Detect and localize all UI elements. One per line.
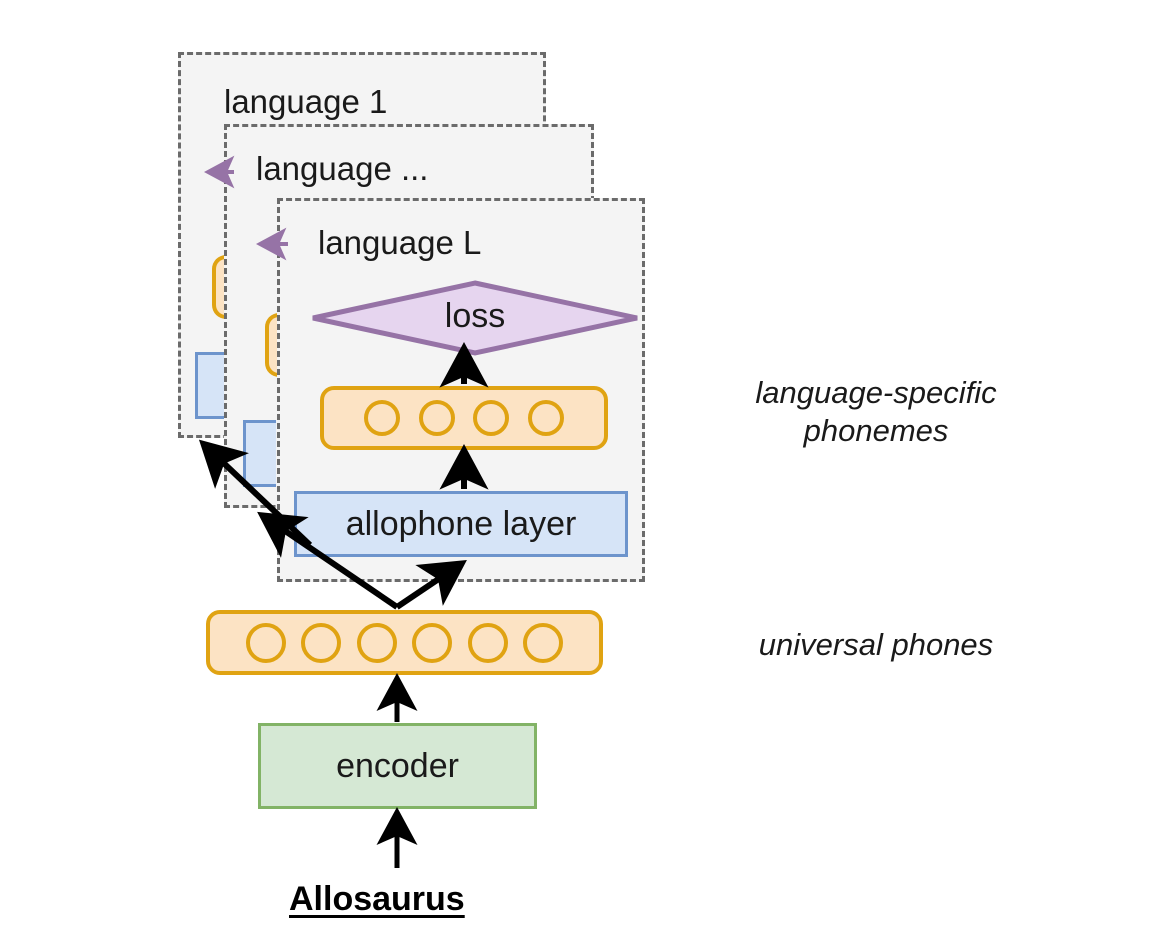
language-panel-3-label: language L [318, 226, 481, 259]
allophone-layer: allophone layer [294, 491, 628, 557]
phoneme-unit [419, 400, 455, 436]
phoneme-unit [473, 400, 509, 436]
annotation-line-1: language-specific [706, 374, 1046, 412]
allophone-layer-fragment-2 [243, 420, 276, 487]
phoneme-unit [528, 400, 564, 436]
phone-unit [412, 623, 452, 663]
loss-node: loss [310, 280, 640, 356]
annotation-language-specific-phonemes: language-specific phonemes [706, 374, 1046, 450]
encoder-block: encoder [258, 723, 537, 809]
loss-label: loss [310, 299, 640, 333]
allophone-layer-label: allophone layer [346, 505, 577, 544]
encoder-label: encoder [336, 747, 459, 786]
universal-phones-layer [206, 610, 603, 675]
phone-unit [357, 623, 397, 663]
phone-unit [468, 623, 508, 663]
language-panel-1-label: language 1 [224, 85, 387, 118]
phone-unit [246, 623, 286, 663]
phoneme-unit [364, 400, 400, 436]
annotation-line-1: universal phones [706, 626, 1046, 664]
phone-unit [301, 623, 341, 663]
language-panel-2-label: language ... [256, 152, 428, 185]
phone-unit [523, 623, 563, 663]
diagram-canvas: language 1 language ... language L loss … [0, 0, 1165, 950]
model-title: Allosaurus [289, 880, 465, 919]
annotation-universal-phones: universal phones [706, 626, 1046, 664]
phoneme-layer [320, 386, 608, 450]
annotation-line-2: phonemes [706, 412, 1046, 450]
